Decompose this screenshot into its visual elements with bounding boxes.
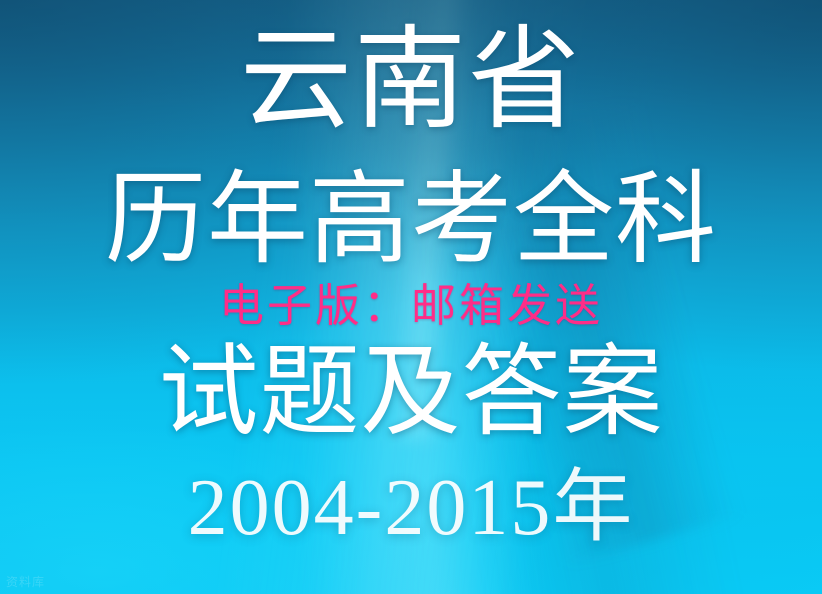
- poster-watermark: 资料库: [6, 573, 45, 590]
- poster-canvas: 云南省 历年高考全科 电子版：邮箱发送 试题及答案 2004-2015年 资料库: [0, 0, 822, 594]
- poster-overlay-delivery-note: 电子版：邮箱发送: [0, 284, 822, 329]
- poster-title-subject-scope: 历年高考全科: [0, 170, 822, 271]
- poster-text-block: 云南省 历年高考全科 电子版：邮箱发送 试题及答案 2004-2015年 资料库: [0, 0, 822, 594]
- poster-title-province: 云南省: [0, 24, 822, 136]
- poster-year-range: 2004-2015年: [0, 468, 822, 548]
- poster-title-papers-answers: 试题及答案: [0, 343, 822, 443]
